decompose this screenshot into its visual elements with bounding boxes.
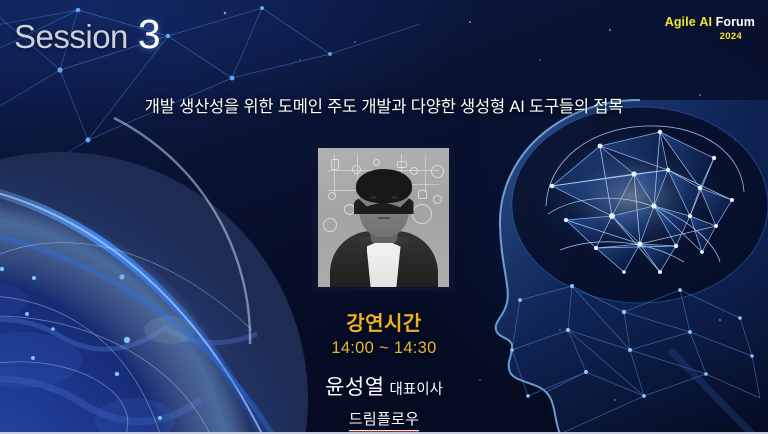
speaker-photo-frame: [312, 144, 455, 291]
session-label: Session 3: [14, 14, 161, 55]
event-logo-title: Agile AI Forum: [665, 16, 755, 30]
session-word: Session: [14, 20, 128, 53]
lecture-time-label: 강연시간: [0, 307, 768, 336]
event-logo: Agile AI Forum 2024: [665, 16, 755, 42]
lecture-time-block: 강연시간 14:00 ~ 14:30: [0, 307, 768, 358]
event-logo-year: 2024: [665, 31, 742, 42]
speaker-company: 드림플로우: [349, 411, 420, 431]
speaker-name-line: 윤성열대표이사: [0, 371, 768, 401]
logo-word-ai: AI: [699, 15, 712, 29]
portrait-eye-left: [370, 196, 377, 199]
portrait-hair: [356, 169, 412, 203]
logo-word-agile: Agile: [665, 15, 696, 29]
presentation-slide: Session 3 Agile AI Forum 2024 개발 생산성을 위한…: [0, 0, 768, 434]
lecture-time-value: 14:00 ~ 14:30: [0, 339, 768, 358]
speaker-role: 대표이사: [390, 382, 443, 398]
speaker-company-wrap: 드림플로우: [349, 408, 420, 429]
speaker-photo: [318, 148, 449, 287]
spellcheck-underline: [349, 429, 420, 432]
speaker-name: 윤성열: [325, 376, 384, 399]
portrait-eye-right: [391, 196, 398, 199]
portrait-shirt: [367, 239, 401, 287]
portrait-mouth: [378, 217, 390, 219]
session-number: 3: [138, 14, 161, 55]
speaker-block: 윤성열대표이사 드림플로우: [0, 371, 768, 429]
page-title: 개발 생산성을 위한 도메인 주도 개발과 다양한 생성형 AI 도구들의 접목: [0, 93, 768, 117]
logo-word-forum: Forum: [716, 15, 755, 29]
